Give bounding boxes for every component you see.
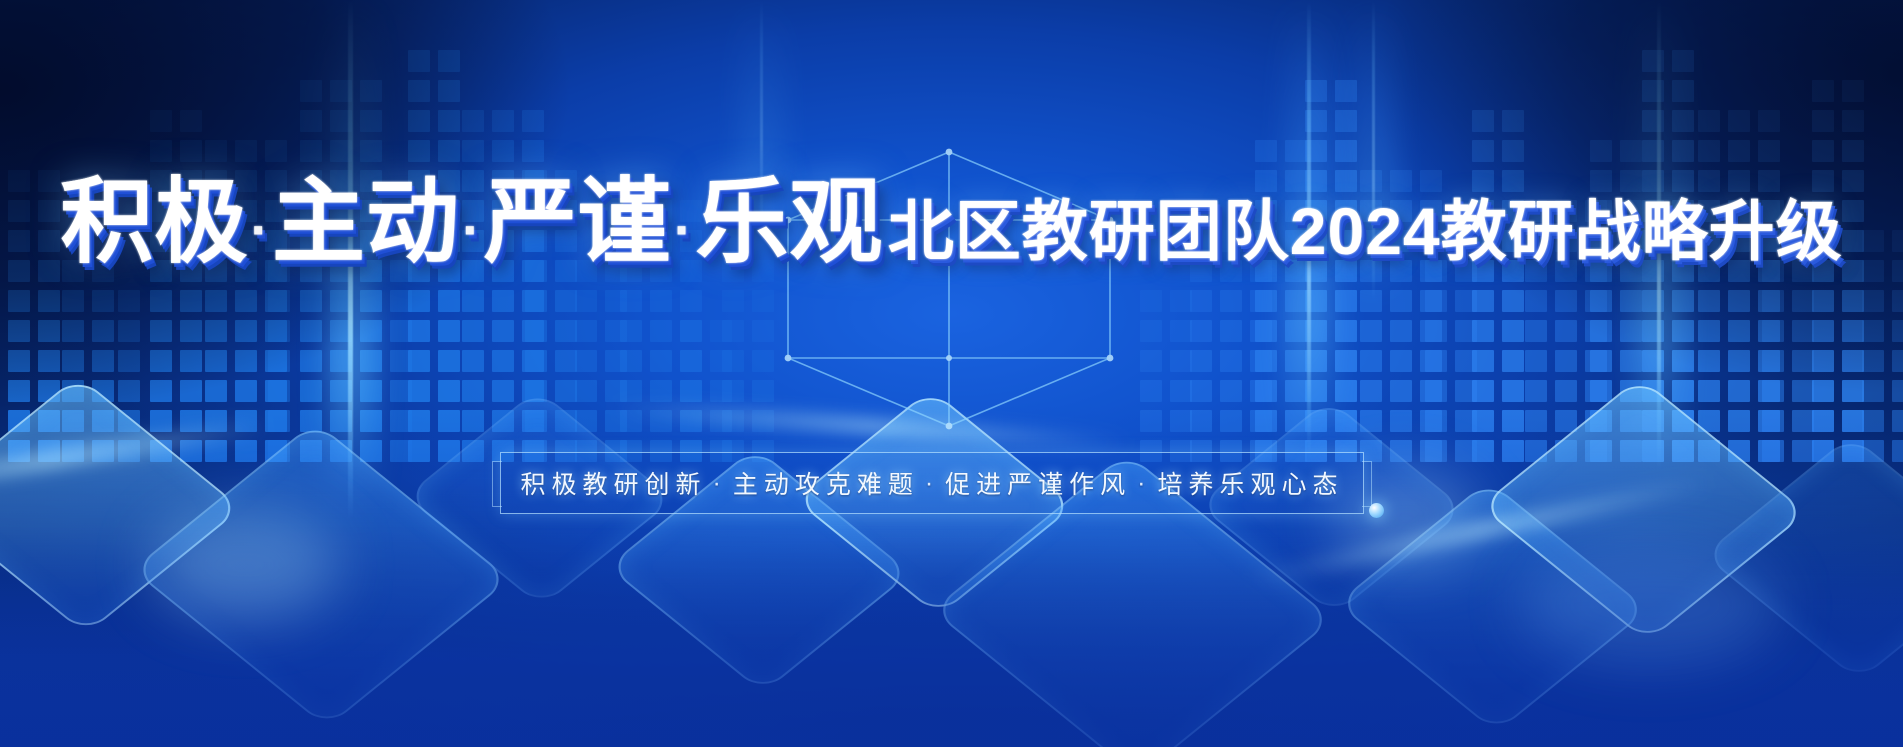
equalizer-cell bbox=[1590, 140, 1612, 162]
equalizer-cell bbox=[722, 260, 744, 282]
equalizer-row bbox=[205, 230, 287, 252]
equalizer-cell bbox=[180, 260, 202, 282]
equalizer-cell bbox=[205, 320, 227, 342]
equalizer-cell bbox=[1425, 350, 1447, 372]
equalizer-row bbox=[525, 350, 577, 372]
equalizer-row bbox=[1590, 260, 1642, 282]
equalizer-row bbox=[1472, 140, 1524, 162]
equalizer-bar bbox=[268, 230, 290, 470]
equalizer-cell bbox=[38, 410, 60, 432]
equalizer-cell bbox=[268, 230, 290, 252]
equalizer-row bbox=[205, 380, 287, 402]
equalizer-cell bbox=[1472, 170, 1494, 192]
equalizer-cell bbox=[1758, 320, 1780, 342]
equalizer-cell bbox=[360, 260, 382, 282]
equalizer-cell bbox=[1360, 350, 1382, 372]
equalizer-row bbox=[1472, 380, 1524, 402]
equalizer-cell bbox=[1390, 260, 1412, 282]
equalizer-row bbox=[300, 320, 382, 342]
equalizer-cell bbox=[150, 320, 172, 342]
equalizer-cell bbox=[1762, 230, 1784, 252]
equalizer-cell bbox=[205, 230, 227, 252]
equalizer-cell bbox=[1220, 260, 1242, 282]
equalizer-cell bbox=[180, 140, 202, 162]
equalizer-cell bbox=[408, 50, 430, 72]
equalizer-cell bbox=[710, 320, 732, 342]
equalizer-row bbox=[1255, 140, 1307, 162]
equalizer-cell bbox=[1525, 440, 1547, 462]
equalizer-cell bbox=[680, 260, 702, 282]
equalizer-cell bbox=[1335, 290, 1357, 312]
equalizer-cell bbox=[1255, 320, 1277, 342]
equalizer-cell bbox=[1255, 410, 1277, 432]
equalizer-cell bbox=[180, 440, 202, 462]
equalizer-cell bbox=[1792, 200, 1814, 222]
equalizer-row bbox=[575, 350, 627, 372]
equalizer-cell bbox=[360, 110, 382, 132]
equalizer-row bbox=[150, 410, 202, 432]
equalizer-row bbox=[1812, 380, 1864, 402]
equalizer-cell bbox=[620, 380, 642, 402]
equalizer-row bbox=[575, 380, 627, 402]
equalizer-cell bbox=[722, 350, 744, 372]
equalizer-cell bbox=[360, 290, 382, 312]
equalizer-cell bbox=[620, 350, 642, 372]
equalizer-row bbox=[722, 350, 774, 372]
equalizer-cell bbox=[235, 170, 257, 192]
equalizer-cell bbox=[1390, 230, 1412, 252]
equalizer-row bbox=[462, 350, 544, 372]
equalizer-row bbox=[1425, 380, 1477, 402]
equalizer-cell bbox=[722, 290, 744, 312]
equalizer-cell bbox=[180, 110, 202, 132]
equalizer-cell bbox=[330, 350, 352, 372]
floor-fade-overlay bbox=[0, 525, 1903, 747]
equalizer-cell bbox=[1420, 320, 1442, 342]
equalizer-row bbox=[8, 170, 60, 192]
equalizer-row bbox=[1472, 260, 1524, 282]
equalizer-row bbox=[1472, 440, 1524, 462]
equalizer-row bbox=[205, 350, 287, 372]
equalizer-cell bbox=[1525, 200, 1547, 222]
equalizer-cell bbox=[1425, 380, 1447, 402]
equalizer-cell bbox=[118, 350, 140, 372]
equalizer-row bbox=[680, 410, 732, 432]
equalizer-cell bbox=[1255, 260, 1277, 282]
equalizer-cell bbox=[1698, 350, 1720, 372]
equalizer-cell bbox=[150, 410, 172, 432]
equalizer-cell bbox=[330, 440, 352, 462]
equalizer-row bbox=[1812, 290, 1864, 312]
equalizer-cell bbox=[1758, 170, 1780, 192]
equalizer-cell bbox=[1220, 230, 1242, 252]
equalizer-cell bbox=[205, 140, 227, 162]
equalizer-row bbox=[620, 410, 702, 432]
equalizer-cell bbox=[525, 200, 547, 222]
equalizer-cell bbox=[492, 380, 514, 402]
equalizer-cell bbox=[1455, 440, 1477, 462]
equalizer-cell bbox=[492, 410, 514, 432]
equalizer-cell bbox=[438, 50, 460, 72]
equalizer-cell bbox=[620, 290, 642, 312]
equalizer-row bbox=[118, 290, 140, 312]
equalizer-cell bbox=[390, 410, 412, 432]
equalizer-row bbox=[1642, 350, 1694, 372]
equalizer-row bbox=[408, 440, 460, 462]
equalizer-cell bbox=[752, 260, 774, 282]
equalizer-row bbox=[1255, 200, 1307, 222]
equalizer-cell bbox=[1792, 290, 1814, 312]
equalizer-row bbox=[722, 380, 774, 402]
equalizer-row bbox=[1360, 260, 1442, 282]
equalizer-cell bbox=[1812, 290, 1834, 312]
equalizer-row bbox=[1525, 290, 1607, 312]
banner-root: 积极·主动·严谨·乐观 北区教研团队2024教研战略升级 积极教研创新 · 主动… bbox=[0, 0, 1903, 747]
equalizer-row bbox=[575, 320, 627, 342]
equalizer-cell bbox=[205, 410, 227, 432]
equalizer-cell bbox=[268, 320, 290, 342]
equalizer-cell bbox=[390, 440, 412, 462]
equalizer-cell bbox=[575, 410, 597, 432]
equalizer-cell bbox=[1672, 350, 1694, 372]
equalizer-cell bbox=[235, 290, 257, 312]
equalizer-cell bbox=[1335, 80, 1357, 102]
equalizer-cell bbox=[1390, 290, 1412, 312]
equalizer-cell bbox=[1590, 320, 1612, 342]
equalizer-cell bbox=[1525, 410, 1547, 432]
equalizer-row bbox=[150, 380, 202, 402]
equalizer-cell bbox=[1472, 320, 1494, 342]
equalizer-row bbox=[150, 230, 202, 252]
equalizer-cell bbox=[1842, 440, 1864, 462]
equalizer-cell bbox=[1420, 440, 1442, 462]
equalizer-cell bbox=[1502, 260, 1524, 282]
equalizer-cell bbox=[438, 290, 460, 312]
equalizer-row bbox=[1698, 230, 1780, 252]
equalizer-cell bbox=[710, 410, 732, 432]
equalizer-cell bbox=[1698, 230, 1720, 252]
equalizer-cell bbox=[525, 170, 547, 192]
equalizer-cell bbox=[92, 410, 114, 432]
equalizer-cell bbox=[650, 290, 672, 312]
equalizer-cell bbox=[265, 320, 287, 342]
equalizer-cell bbox=[1862, 380, 1884, 402]
equalizer-cell bbox=[360, 380, 382, 402]
equalizer-row bbox=[408, 380, 460, 402]
equalizer-cell bbox=[1585, 380, 1607, 402]
equalizer-cell bbox=[1220, 320, 1242, 342]
equalizer-cell bbox=[1555, 260, 1577, 282]
equalizer-row bbox=[360, 440, 412, 462]
equalizer-row bbox=[300, 260, 382, 282]
equalizer-cell bbox=[522, 320, 544, 342]
equalizer-bar bbox=[205, 140, 287, 470]
equalizer-cell bbox=[752, 320, 774, 342]
equalizer-cell bbox=[1792, 380, 1814, 402]
equalizer-row bbox=[1698, 170, 1780, 192]
vertical-light-beam-5 bbox=[760, 0, 763, 230]
equalizer-cell bbox=[1335, 200, 1357, 222]
title-part-3: 严谨 bbox=[484, 170, 672, 274]
equalizer-row bbox=[1472, 230, 1524, 252]
equalizer-row bbox=[1698, 110, 1780, 132]
equalizer-cell bbox=[1642, 170, 1664, 192]
equalizer-cell bbox=[235, 320, 257, 342]
equalizer-cell bbox=[92, 290, 114, 312]
equalizer-cell bbox=[752, 380, 774, 402]
equalizer-cell bbox=[1250, 290, 1272, 312]
equalizer-cell bbox=[1728, 200, 1750, 222]
equalizer-cell bbox=[1555, 290, 1577, 312]
equalizer-cell bbox=[522, 260, 544, 282]
equalizer-cell bbox=[1762, 320, 1784, 342]
equalizer-row bbox=[1425, 260, 1477, 282]
tagline-item-1: 积极教研创新 bbox=[520, 465, 706, 501]
equalizer-cell bbox=[300, 380, 322, 402]
equalizer-cell bbox=[1555, 200, 1577, 222]
equalizer-row bbox=[118, 410, 140, 432]
equalizer-row bbox=[1255, 290, 1307, 312]
equalizer-row bbox=[462, 380, 544, 402]
equalizer-cell bbox=[1812, 110, 1834, 132]
floor-tile bbox=[1479, 377, 1807, 643]
equalizer-cell bbox=[150, 260, 172, 282]
equalizer-cell bbox=[1642, 410, 1664, 432]
equalizer-cell bbox=[1455, 260, 1477, 282]
equalizer-cell bbox=[265, 350, 287, 372]
equalizer-cell bbox=[1642, 350, 1664, 372]
equalizer-cell bbox=[462, 290, 484, 312]
equalizer-cell bbox=[408, 80, 430, 102]
equalizer-row bbox=[1762, 230, 1814, 252]
equalizer-row bbox=[300, 350, 382, 372]
equalizer-cell bbox=[300, 290, 322, 312]
equalizer-cell bbox=[38, 380, 60, 402]
equalizer-cell bbox=[1390, 170, 1412, 192]
equalizer-cell bbox=[555, 350, 577, 372]
equalizer-cell bbox=[462, 380, 484, 402]
equalizer-cell bbox=[620, 260, 642, 282]
equalizer-cell bbox=[1525, 320, 1547, 342]
equalizer-row bbox=[1255, 170, 1307, 192]
equalizer-cell bbox=[180, 170, 202, 192]
equalizer-row bbox=[360, 290, 412, 312]
equalizer-cell bbox=[1420, 410, 1442, 432]
equalizer-row bbox=[1642, 140, 1694, 162]
equalizer-row bbox=[150, 350, 202, 372]
equalizer-cell bbox=[438, 230, 460, 252]
equalizer-cell bbox=[575, 350, 597, 372]
glow-blob bbox=[1520, 545, 1780, 665]
equalizer-row bbox=[8, 320, 60, 342]
equalizer-cell bbox=[1862, 440, 1884, 462]
tagline-item-3: 促进严谨作风 bbox=[945, 465, 1131, 501]
equalizer-cell bbox=[1360, 290, 1382, 312]
floor-light-streak bbox=[0, 417, 270, 504]
equalizer-cell bbox=[1360, 260, 1382, 282]
equalizer-cell bbox=[1892, 260, 1903, 282]
equalizer-cell bbox=[1762, 440, 1784, 462]
equalizer-cell bbox=[1590, 200, 1612, 222]
equalizer-row bbox=[150, 200, 202, 222]
equalizer-cell bbox=[1758, 260, 1780, 282]
equalizer-cell bbox=[268, 410, 290, 432]
equalizer-row bbox=[300, 440, 382, 462]
equalizer-cell bbox=[265, 230, 287, 252]
equalizer-row bbox=[1642, 410, 1694, 432]
equalizer-cell bbox=[1758, 230, 1780, 252]
equalizer-cell bbox=[330, 170, 352, 192]
equalizer-cell bbox=[1762, 350, 1784, 372]
equalizer-row bbox=[300, 80, 382, 102]
equalizer-cell bbox=[1672, 50, 1694, 72]
equalizer-cell bbox=[1812, 380, 1834, 402]
equalizer-cell bbox=[150, 140, 172, 162]
equalizer-row bbox=[62, 440, 114, 462]
equalizer-cell bbox=[1620, 200, 1642, 222]
equalizer-cell bbox=[265, 140, 287, 162]
equalizer-row bbox=[1425, 440, 1477, 462]
equalizer-cell bbox=[1305, 380, 1327, 402]
equalizer-cell bbox=[650, 350, 672, 372]
equalizer-cell bbox=[680, 320, 702, 342]
equalizer-cell bbox=[1555, 380, 1577, 402]
equalizer-cell bbox=[680, 350, 702, 372]
equalizer-cell bbox=[525, 230, 547, 252]
equalizer-cell bbox=[330, 200, 352, 222]
equalizer-row bbox=[1590, 320, 1642, 342]
equalizer-cell bbox=[205, 200, 227, 222]
equalizer-row bbox=[1472, 110, 1524, 132]
equalizer-cell bbox=[1758, 290, 1780, 312]
equalizer-cell bbox=[492, 320, 514, 342]
equalizer-cell bbox=[1842, 380, 1864, 402]
equalizer-row bbox=[525, 410, 577, 432]
equalizer-cell bbox=[1590, 290, 1612, 312]
equalizer-row bbox=[1255, 260, 1307, 282]
equalizer-row bbox=[575, 410, 627, 432]
equalizer-cell bbox=[1585, 320, 1607, 342]
equalizer-cell bbox=[1620, 320, 1642, 342]
equalizer-cell bbox=[1455, 290, 1477, 312]
equalizer-cell bbox=[1862, 260, 1884, 282]
equalizer-cell bbox=[268, 260, 290, 282]
equalizer-cell bbox=[205, 170, 227, 192]
equalizer-cell bbox=[1672, 410, 1694, 432]
equalizer-row bbox=[408, 290, 460, 312]
equalizer-row bbox=[150, 260, 202, 282]
equalizer-row bbox=[408, 170, 460, 192]
equalizer-cell bbox=[360, 230, 382, 252]
equalizer-row bbox=[408, 350, 460, 372]
equalizer-row bbox=[300, 110, 382, 132]
equalizer-row bbox=[268, 380, 290, 402]
equalizer-cell bbox=[360, 440, 382, 462]
equalizer-row bbox=[8, 260, 60, 282]
equalizer-cell bbox=[1842, 350, 1864, 372]
equalizer-cell bbox=[1170, 320, 1192, 342]
equalizer-cell bbox=[1585, 230, 1607, 252]
equalizer-bar bbox=[1762, 200, 1814, 470]
equalizer-cell bbox=[1455, 350, 1477, 372]
equalizer-cell bbox=[360, 320, 382, 342]
equalizer-cell bbox=[38, 350, 60, 372]
equalizer-cell bbox=[1642, 50, 1664, 72]
equalizer-cell bbox=[1390, 350, 1412, 372]
equalizer-cell bbox=[752, 350, 774, 372]
equalizer-row bbox=[462, 320, 544, 342]
equalizer-cell bbox=[300, 170, 322, 192]
equalizer-cell bbox=[1590, 170, 1612, 192]
equalizer-cell bbox=[1502, 320, 1524, 342]
equalizer-row bbox=[360, 320, 412, 342]
equalizer-cell bbox=[1285, 350, 1307, 372]
equalizer-cell bbox=[1525, 260, 1547, 282]
equalizer-cell bbox=[555, 170, 577, 192]
equalizer-cell bbox=[1472, 440, 1494, 462]
equalizer-cell bbox=[360, 350, 382, 372]
equalizer-cell bbox=[235, 440, 257, 462]
equalizer-cell bbox=[1812, 410, 1834, 432]
equalizer-cell bbox=[680, 230, 702, 252]
equalizer-row bbox=[462, 260, 544, 282]
equalizer-row bbox=[300, 230, 382, 252]
equalizer-row bbox=[205, 290, 287, 312]
equalizer-row bbox=[1472, 290, 1524, 312]
equalizer-cell bbox=[265, 200, 287, 222]
equalizer-row bbox=[1190, 230, 1272, 252]
equalizer-row bbox=[1305, 170, 1357, 192]
equalizer-cell bbox=[1285, 170, 1307, 192]
equalizer-cell bbox=[1892, 230, 1903, 252]
equalizer-cell bbox=[1728, 260, 1750, 282]
equalizer-cell bbox=[1728, 380, 1750, 402]
equalizer-cell bbox=[1698, 410, 1720, 432]
equalizer-cell bbox=[330, 80, 352, 102]
equalizer-row bbox=[1642, 380, 1694, 402]
equalizer-cell bbox=[722, 320, 744, 342]
equalizer-cell bbox=[8, 200, 30, 222]
equalizer-row bbox=[722, 260, 774, 282]
tagline-separator: · bbox=[706, 469, 732, 498]
equalizer-cell bbox=[710, 380, 732, 402]
equalizer-cell bbox=[1585, 260, 1607, 282]
equalizer-cell bbox=[1305, 200, 1327, 222]
headline-block: 积极·主动·严谨·乐观 北区教研团队2024教研战略升级 bbox=[0, 168, 1903, 274]
equalizer-row bbox=[1642, 260, 1694, 282]
equalizer-row bbox=[1862, 380, 1903, 402]
equalizer-cell bbox=[1728, 110, 1750, 132]
equalizer-row bbox=[150, 290, 202, 312]
equalizer-row bbox=[1862, 230, 1903, 252]
equalizer-cell bbox=[1285, 290, 1307, 312]
floor-tile bbox=[132, 421, 511, 728]
equalizer-row bbox=[525, 380, 577, 402]
equalizer-cell bbox=[1555, 410, 1577, 432]
equalizer-cell bbox=[1620, 410, 1642, 432]
equalizer-cell bbox=[462, 110, 484, 132]
equalizer-row bbox=[300, 200, 382, 222]
equalizer-row bbox=[525, 200, 577, 222]
equalizer-row bbox=[1305, 110, 1357, 132]
equalizer-cell bbox=[62, 290, 84, 312]
equalizer-cell bbox=[1728, 440, 1750, 462]
equalizer-row bbox=[8, 380, 60, 402]
equalizer-row bbox=[1425, 350, 1477, 372]
equalizer-cell bbox=[150, 200, 172, 222]
equalizer-cell bbox=[1842, 80, 1864, 102]
equalizer-cell bbox=[300, 410, 322, 432]
